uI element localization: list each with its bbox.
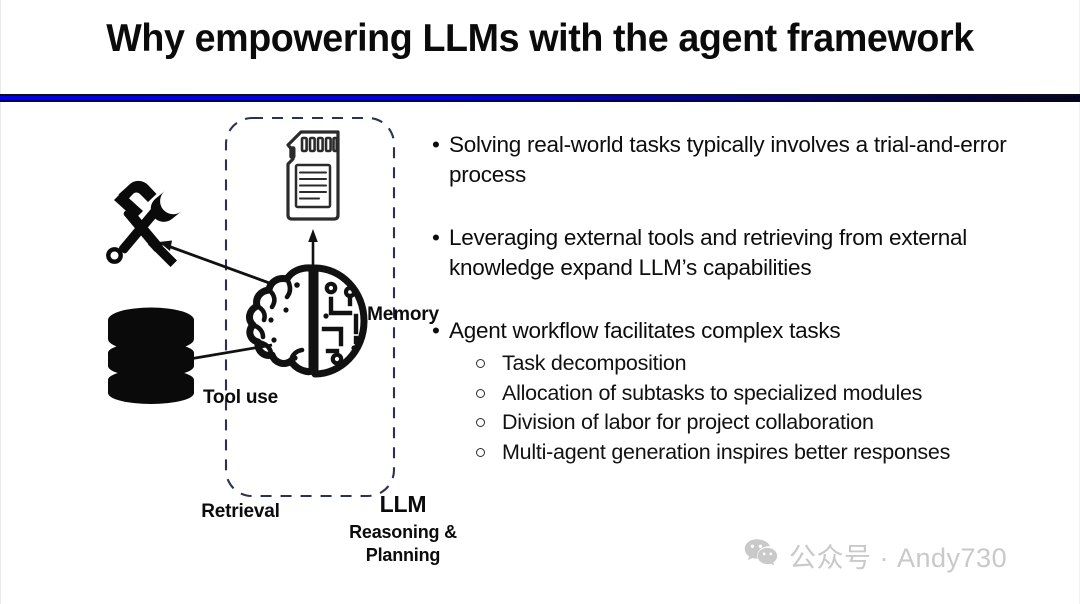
sub-bullet-list: Task decomposition Allocation of subtask… — [428, 349, 1056, 467]
sub-bullet-marker — [476, 448, 485, 457]
page-left-border — [0, 0, 1, 604]
hammer-wrench-icon — [108, 181, 196, 267]
sub-bullet-text: Multi-agent generation inspires better r… — [502, 440, 950, 464]
agent-architecture-diagram: Memory Tool use Retrieval LLM Reasoning … — [88, 108, 418, 538]
llm-sublabel-line1: Reasoning & — [349, 522, 457, 542]
sub-bullet-text: Allocation of subtasks to specialized mo… — [502, 381, 922, 405]
arrow-llm-to-memory-icon — [308, 229, 318, 265]
llm-sublabel-line2: Planning — [366, 545, 440, 565]
bullet-item: • Leveraging external tools and retrievi… — [428, 223, 1056, 283]
tool-use-label: Tool use — [173, 387, 308, 409]
bullet-text: Solving real-world tasks typically invol… — [449, 132, 1006, 187]
bullet-item: • Agent workflow facilitates complex tas… — [428, 316, 1056, 346]
bullet-item: • Solving real-world tasks typically inv… — [428, 130, 1056, 190]
sub-bullet-item: Task decomposition — [475, 349, 1056, 379]
retrieval-label: Retrieval — [168, 501, 313, 523]
bullet-marker: • — [432, 130, 440, 160]
title-divider — [0, 94, 1080, 103]
sub-bullet-text: Task decomposition — [502, 351, 686, 375]
wechat-icon — [744, 538, 778, 573]
bullet-marker: • — [432, 223, 440, 253]
sub-bullet-marker — [476, 389, 485, 398]
slide-canvas: Why empowering LLMs with the agent frame… — [0, 0, 1080, 604]
watermark: 公众号 · Andy730 — [744, 536, 1007, 575]
bullet-spacer — [428, 190, 1056, 223]
page-title: Why empowering LLMs with the agent frame… — [19, 17, 1061, 61]
sub-bullet-item: Allocation of subtasks to specialized mo… — [475, 379, 1056, 409]
sub-bullet-item: Division of labor for project collaborat… — [475, 408, 1056, 438]
watermark-text: 公众号 · Andy730 — [789, 536, 1007, 575]
bullet-text: Leveraging external tools and retrieving… — [449, 225, 967, 280]
divider-bottom-edge — [0, 100, 1080, 102]
sub-bullet-item: Multi-agent generation inspires better r… — [475, 438, 1056, 468]
bullet-list: • Solving real-world tasks typically inv… — [428, 130, 1056, 467]
bullet-marker: • — [432, 316, 440, 346]
llm-label: LLM — [318, 491, 488, 518]
sub-bullet-text: Division of labor for project collaborat… — [502, 410, 874, 434]
llm-sublabel: Reasoning &Planning — [312, 521, 494, 567]
sub-bullet-marker — [476, 418, 485, 427]
bullet-text: Agent workflow facilitates complex tasks — [449, 318, 840, 343]
sd-card-icon — [288, 132, 338, 219]
bullet-spacer — [428, 283, 1056, 316]
sub-bullet-marker — [476, 359, 485, 368]
